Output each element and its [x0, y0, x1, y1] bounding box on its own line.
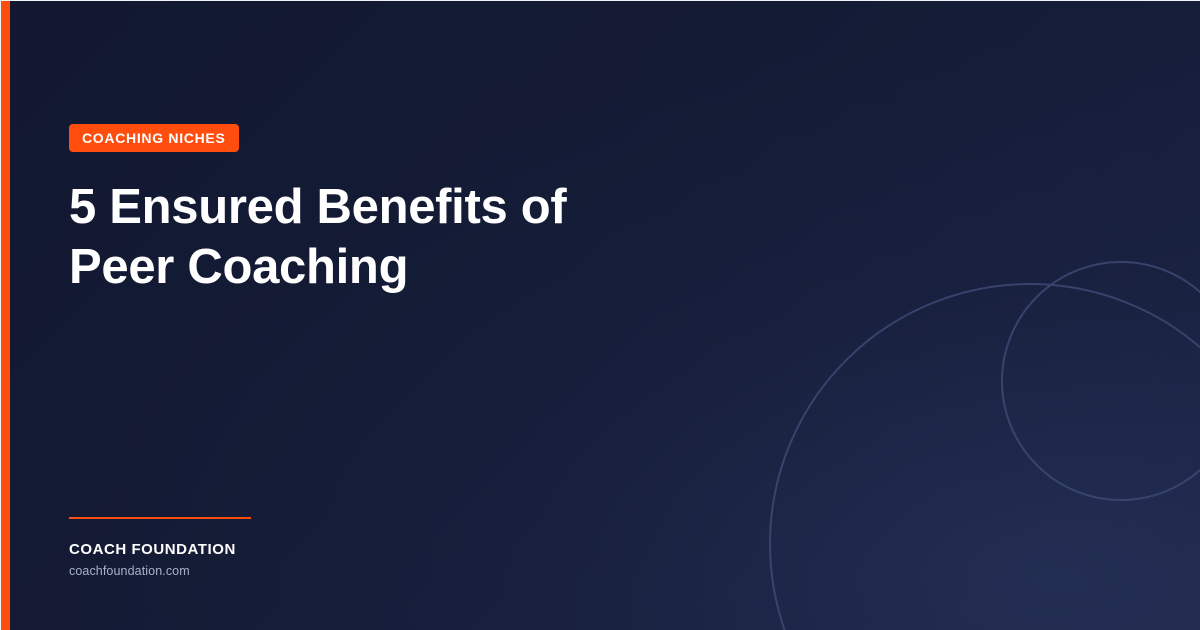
category-badge[interactable]: COACHING NICHES: [69, 124, 239, 152]
large-circle: [770, 284, 1200, 630]
left-edge-line: [0, 0, 1, 630]
brand-url: coachfoundation.com: [69, 563, 469, 579]
content-column: COACHING NICHES 5 Ensured Benefits of Pe…: [69, 0, 769, 630]
page-title-line-2: Peer Coaching: [69, 237, 709, 297]
small-circle: [1002, 262, 1200, 500]
footer-divider: [69, 517, 251, 519]
brand-name: COACH FOUNDATION: [69, 541, 469, 559]
page-title: 5 Ensured Benefits of Peer Coaching: [69, 177, 709, 297]
social-card: COACHING NICHES 5 Ensured Benefits of Pe…: [0, 0, 1200, 630]
page-title-line-1: 5 Ensured Benefits of: [69, 177, 709, 237]
left-accent-bar: [0, 0, 10, 630]
footer: COACH FOUNDATION coachfoundation.com: [69, 517, 469, 579]
